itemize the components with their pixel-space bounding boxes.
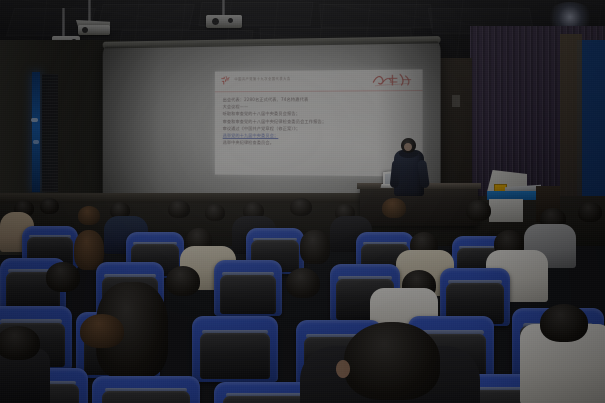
projector-mount-pole-right bbox=[222, 0, 225, 16]
projector-lens-right bbox=[212, 18, 219, 25]
audience-head bbox=[0, 326, 40, 360]
blue-light-column bbox=[32, 72, 40, 192]
audience-head-foreground bbox=[344, 322, 440, 400]
audience-head bbox=[578, 202, 602, 222]
audience-head bbox=[540, 304, 588, 342]
auditorium-photo: 中国共产党第十九次全国代表大会 bbox=[0, 0, 605, 403]
audience-head bbox=[40, 198, 59, 214]
audience-head bbox=[290, 198, 312, 216]
audience-head bbox=[78, 206, 100, 225]
wall-switch-box bbox=[452, 95, 460, 107]
presenter-speaker bbox=[392, 138, 426, 196]
audience-head bbox=[168, 200, 190, 218]
audience-head bbox=[466, 200, 491, 221]
projector-lens-right-2 bbox=[228, 18, 233, 23]
audience-seating bbox=[0, 196, 605, 403]
audience-head bbox=[205, 204, 225, 221]
wall-speaker-grille bbox=[42, 74, 58, 192]
audience-head bbox=[300, 230, 330, 264]
presenter-face bbox=[404, 143, 412, 151]
projector-mount-pole-left bbox=[62, 8, 65, 38]
audience-head bbox=[46, 262, 80, 292]
seat bbox=[92, 376, 200, 403]
audience-ear bbox=[336, 360, 350, 378]
seat bbox=[214, 260, 282, 316]
audience-head bbox=[382, 198, 406, 218]
wall-light-a bbox=[31, 118, 38, 122]
audience-head bbox=[80, 314, 124, 348]
audience-head bbox=[286, 268, 320, 298]
audience-head bbox=[166, 266, 200, 296]
wall-light-b bbox=[33, 140, 39, 144]
seat bbox=[192, 316, 278, 382]
projector-lens-center bbox=[82, 27, 88, 33]
projector-mount-pole-center bbox=[88, 0, 91, 22]
